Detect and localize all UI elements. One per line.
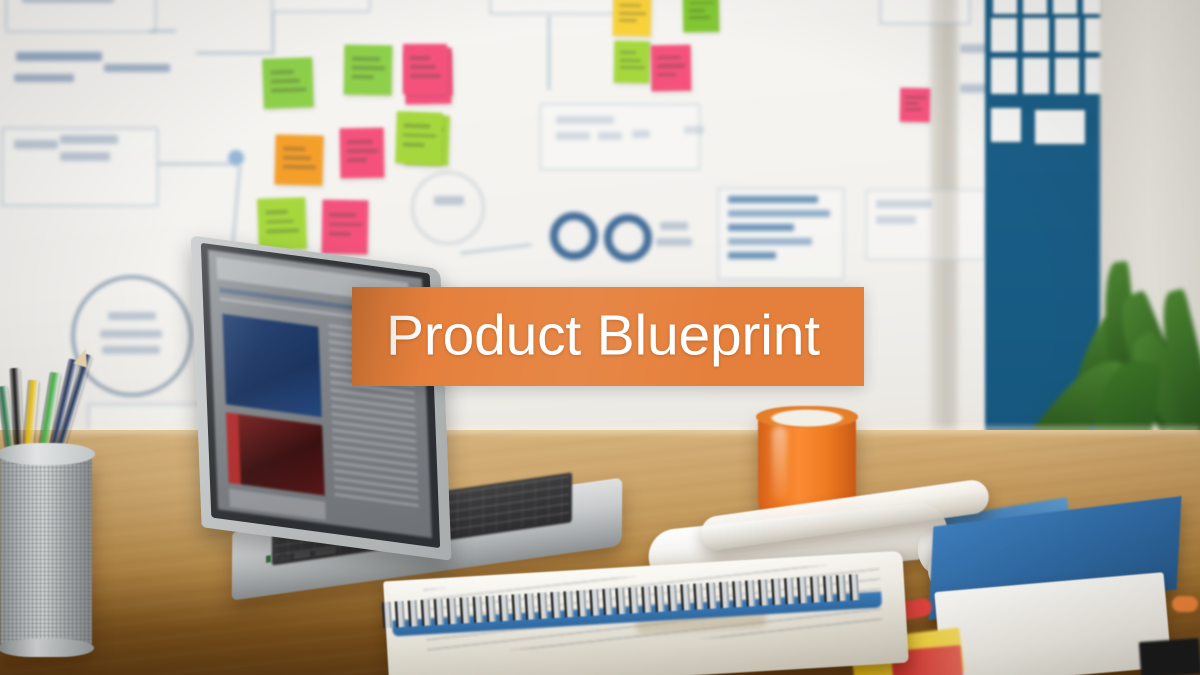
orange-clip — [1172, 596, 1198, 612]
sticky-note-writing — [619, 19, 637, 22]
sticky-note — [274, 134, 323, 185]
mug-highlight — [772, 426, 787, 500]
sticky-note — [344, 45, 393, 96]
pinboard-card — [1055, 18, 1079, 52]
sticky-note-writing — [352, 66, 386, 70]
sticky-note-writing — [352, 57, 380, 61]
sticky-note-writing — [905, 102, 919, 105]
sticky-note-writing — [657, 56, 680, 60]
sticky-note-writing — [403, 133, 435, 138]
pinboard-card — [993, 0, 1017, 14]
sticky-note-writing — [657, 73, 675, 77]
sticky-note-writing — [410, 56, 430, 60]
sticky-note-writing — [620, 51, 637, 54]
sticky-note-writing — [352, 75, 374, 79]
pinboard-card — [991, 108, 1021, 142]
sticky-note-writing — [347, 158, 367, 162]
page-title: Product Blueprint — [386, 302, 820, 368]
sticky-note-writing — [657, 64, 685, 68]
sticky-note-writing — [689, 1, 714, 4]
sticky-note-writing — [271, 79, 300, 84]
sticky-note — [613, 0, 652, 36]
sticky-note — [395, 111, 443, 165]
pinboard-card — [1035, 110, 1085, 144]
sticky-note — [403, 44, 447, 94]
sticky-note-writing — [283, 147, 305, 151]
sticky-note — [683, 0, 720, 32]
sticky-note-writing — [403, 143, 424, 147]
sticky-note-writing — [347, 149, 378, 153]
sticky-note-writing — [282, 165, 316, 169]
sticky-note — [340, 128, 385, 179]
sticky-note-writing — [329, 232, 350, 236]
pinboard-card — [1053, 0, 1077, 14]
sticky-note-writing — [330, 213, 357, 217]
sticky-note-writing — [689, 16, 710, 19]
screenshot-root: Product Blueprint — [0, 0, 1200, 675]
sticky-note — [322, 200, 369, 255]
desk-front-edge — [0, 427, 1200, 437]
sticky-note — [900, 88, 931, 123]
cup-foot — [0, 639, 94, 657]
sticky-note-writing — [619, 11, 646, 14]
sticky-note — [614, 41, 651, 84]
sticky-note-writing — [620, 58, 641, 61]
sticky-note-writing — [266, 229, 300, 234]
sticky-note — [262, 57, 314, 109]
pinboard-card — [1023, 0, 1047, 14]
pinboard-card — [1023, 58, 1049, 94]
pinboard-card — [1055, 58, 1079, 94]
mesh-cup — [0, 452, 92, 652]
sticky-note-writing — [905, 96, 926, 99]
sticky-note-writing — [619, 4, 641, 7]
sticky-note-writing — [410, 74, 441, 78]
mug-rim — [756, 406, 858, 428]
pinboard-card — [991, 58, 1017, 94]
dark-object — [1139, 638, 1200, 675]
sticky-note-writing — [283, 156, 311, 160]
sticky-note — [257, 197, 307, 251]
sticky-note-writing — [266, 219, 294, 224]
sticky-note-writing — [329, 222, 361, 226]
sticky-note-writing — [404, 124, 431, 129]
pinboard-card — [1023, 18, 1049, 52]
sticky-note-writing — [620, 66, 645, 69]
sticky-note — [651, 45, 692, 92]
cup-rim — [0, 443, 95, 465]
sticky-note-writing — [689, 9, 706, 12]
sticky-note-writing — [265, 210, 287, 214]
title-banner: Product Blueprint — [352, 287, 864, 386]
sticky-note-writing — [347, 140, 373, 144]
sticky-note-writing — [271, 87, 306, 92]
sticky-note-writing — [905, 108, 922, 111]
pinboard-card — [991, 18, 1017, 52]
sticky-note-writing — [271, 70, 294, 74]
sticky-note-writing — [410, 65, 436, 69]
